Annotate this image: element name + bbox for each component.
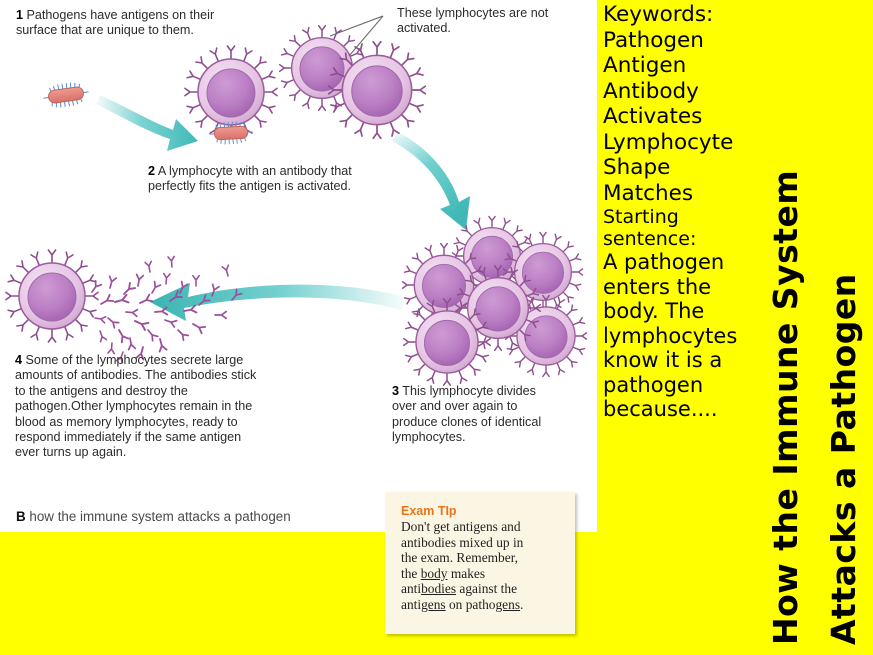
keywords-panel: Keywords: Pathogen Antigen Antibody Acti…: [597, 0, 760, 655]
exam-tip-line-4: the body makes: [401, 566, 563, 582]
exam-tip-box: Exam TIp Don't get antigens and antibodi…: [385, 492, 575, 634]
figure-caption: B how the immune system attacks a pathog…: [16, 509, 436, 525]
step-2-text: 2 A lymphocyte with an antibody that per…: [148, 164, 388, 195]
step-3-text: 3 This lymphocyte divides over and over …: [392, 384, 562, 446]
starting-sentence-line-4: lymphocytes: [603, 324, 760, 349]
starting-sentence-label-line-1: Starting: [603, 206, 760, 228]
exam-tip-line-2: antibodies mixed up in: [401, 535, 563, 551]
starting-sentence-line-6: pathogen: [603, 373, 760, 398]
pathogen-1: [42, 81, 89, 109]
exam-tip-line-1: Don't get antigens and: [401, 519, 563, 535]
slide-root: 1 Pathogens have antigens on their surfa…: [0, 0, 873, 655]
arrow-3: [150, 283, 404, 321]
arrow-1: [96, 95, 198, 151]
keyword-antigen: Antigen: [603, 53, 760, 79]
starting-sentence-line-7: because....: [603, 397, 760, 422]
exam-tip-title: Exam TIp: [401, 504, 563, 518]
starting-sentence-line-3: body. The: [603, 299, 760, 324]
step-1-number: 1: [16, 8, 23, 22]
step-1-text: 1 Pathogens have antigens on their surfa…: [16, 8, 221, 39]
slide-title-block: How the Immune System Attacks a Pathogen: [760, 0, 873, 655]
keyword-lymphocyte: Lymphocyte: [603, 130, 760, 156]
keyword-shape: Shape: [603, 155, 760, 181]
lymphocyte-activated: [185, 46, 277, 138]
step-4-text: 4 Some of the lymphocytes secrete large …: [15, 353, 265, 461]
exam-tip-body: Don't get antigens and antibodies mixed …: [401, 519, 563, 613]
lymphocyte-secreting: [6, 250, 98, 342]
step-4-body: Some of the lymphocytes secrete large am…: [15, 353, 256, 459]
callout-not-activated: These lymphocytes are not activated.: [397, 6, 557, 37]
figure-caption-text: how the immune system attacks a pathogen: [29, 509, 290, 524]
step-4-number: 4: [15, 353, 22, 367]
step-2-body: A lymphocyte with an antibody that perfe…: [148, 164, 352, 193]
step-1-body: Pathogens have antigens on their surface…: [16, 8, 214, 37]
keyword-activates: Activates: [603, 104, 760, 130]
keyword-pathogen: Pathogen: [603, 28, 760, 54]
lymphocyte-clone-cluster: [403, 216, 587, 385]
keyword-matches: Matches: [603, 181, 760, 207]
arrow-2: [392, 132, 470, 230]
keywords-heading: Keywords:: [603, 2, 760, 28]
exam-tip-line-3: the exam. Remember,: [401, 550, 563, 566]
figure-caption-label: B: [16, 509, 26, 524]
keyword-antibody: Antibody: [603, 79, 760, 105]
starting-sentence-line-1: A pathogen: [603, 250, 760, 275]
starting-sentence-line-5: know it is a: [603, 348, 760, 373]
exam-tip-line-5: antibodies against the: [401, 581, 563, 597]
exam-tip-line-6: antigens on pathogens.: [401, 597, 563, 613]
starting-sentence-line-2: enters the: [603, 275, 760, 300]
title-line-2: Attacks a Pathogen: [827, 273, 860, 645]
step-2-number: 2: [148, 164, 155, 178]
title-line-1: How the Immune System: [769, 170, 802, 645]
starting-sentence-label-line-2: sentence:: [603, 228, 760, 250]
step-3-number: 3: [392, 384, 399, 398]
step-3-body: This lymphocyte divides over and over ag…: [392, 384, 541, 444]
